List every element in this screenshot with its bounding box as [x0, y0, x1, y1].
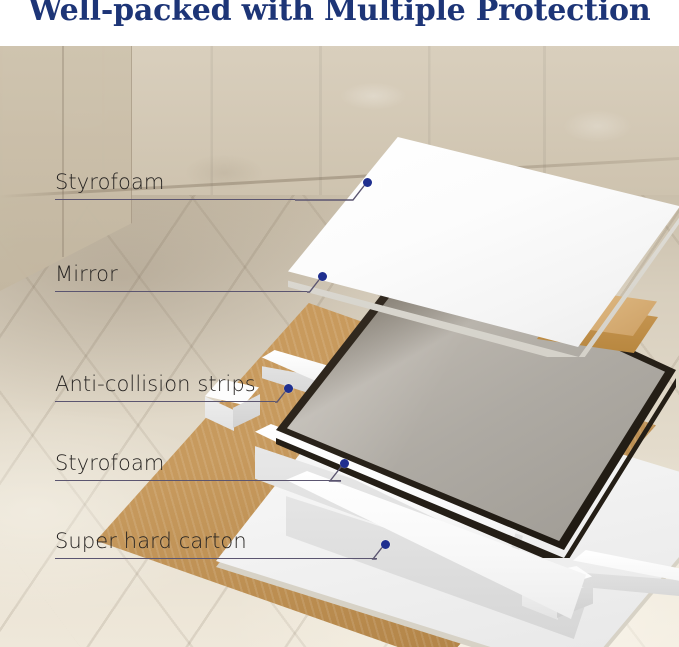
- callout-mirror: Mirror: [55, 258, 307, 292]
- callout-dot: [340, 459, 349, 468]
- callout-rule: [55, 291, 307, 293]
- page-title: Well-packed with Multiple Protection: [0, 0, 679, 28]
- callout-label: Styrofoam: [55, 170, 164, 194]
- callout-dot: [381, 540, 390, 549]
- callout-anti-collision: Anti-collision strips: [55, 368, 275, 402]
- callout-super-hard-carton: Super hard carton: [55, 525, 377, 559]
- callout-rule: [55, 199, 295, 201]
- callout-label: Mirror: [55, 262, 118, 286]
- callout-styrofoam-bottom: Styrofoam: [55, 447, 341, 481]
- wall-seam: [62, 45, 64, 257]
- title-bar: Well-packed with Multiple Protection: [0, 0, 679, 46]
- callout-rule: [55, 401, 275, 403]
- callout-styrofoam-top: Styrofoam: [55, 166, 295, 200]
- callout-dot: [363, 178, 372, 187]
- callout-dot: [318, 272, 327, 281]
- callout-label: Anti-collision strips: [55, 372, 256, 396]
- callout-label: Super hard carton: [55, 529, 247, 553]
- callout-rule: [55, 480, 341, 482]
- callout-rule: [55, 558, 377, 560]
- product-packaging-scene: StyrofoamMirrorAnti-collision stripsStyr…: [0, 45, 679, 647]
- infographic-page: Well-packed with Multiple Protection: [0, 0, 679, 647]
- callout-label: Styrofoam: [55, 451, 164, 475]
- callout-dot: [284, 384, 293, 393]
